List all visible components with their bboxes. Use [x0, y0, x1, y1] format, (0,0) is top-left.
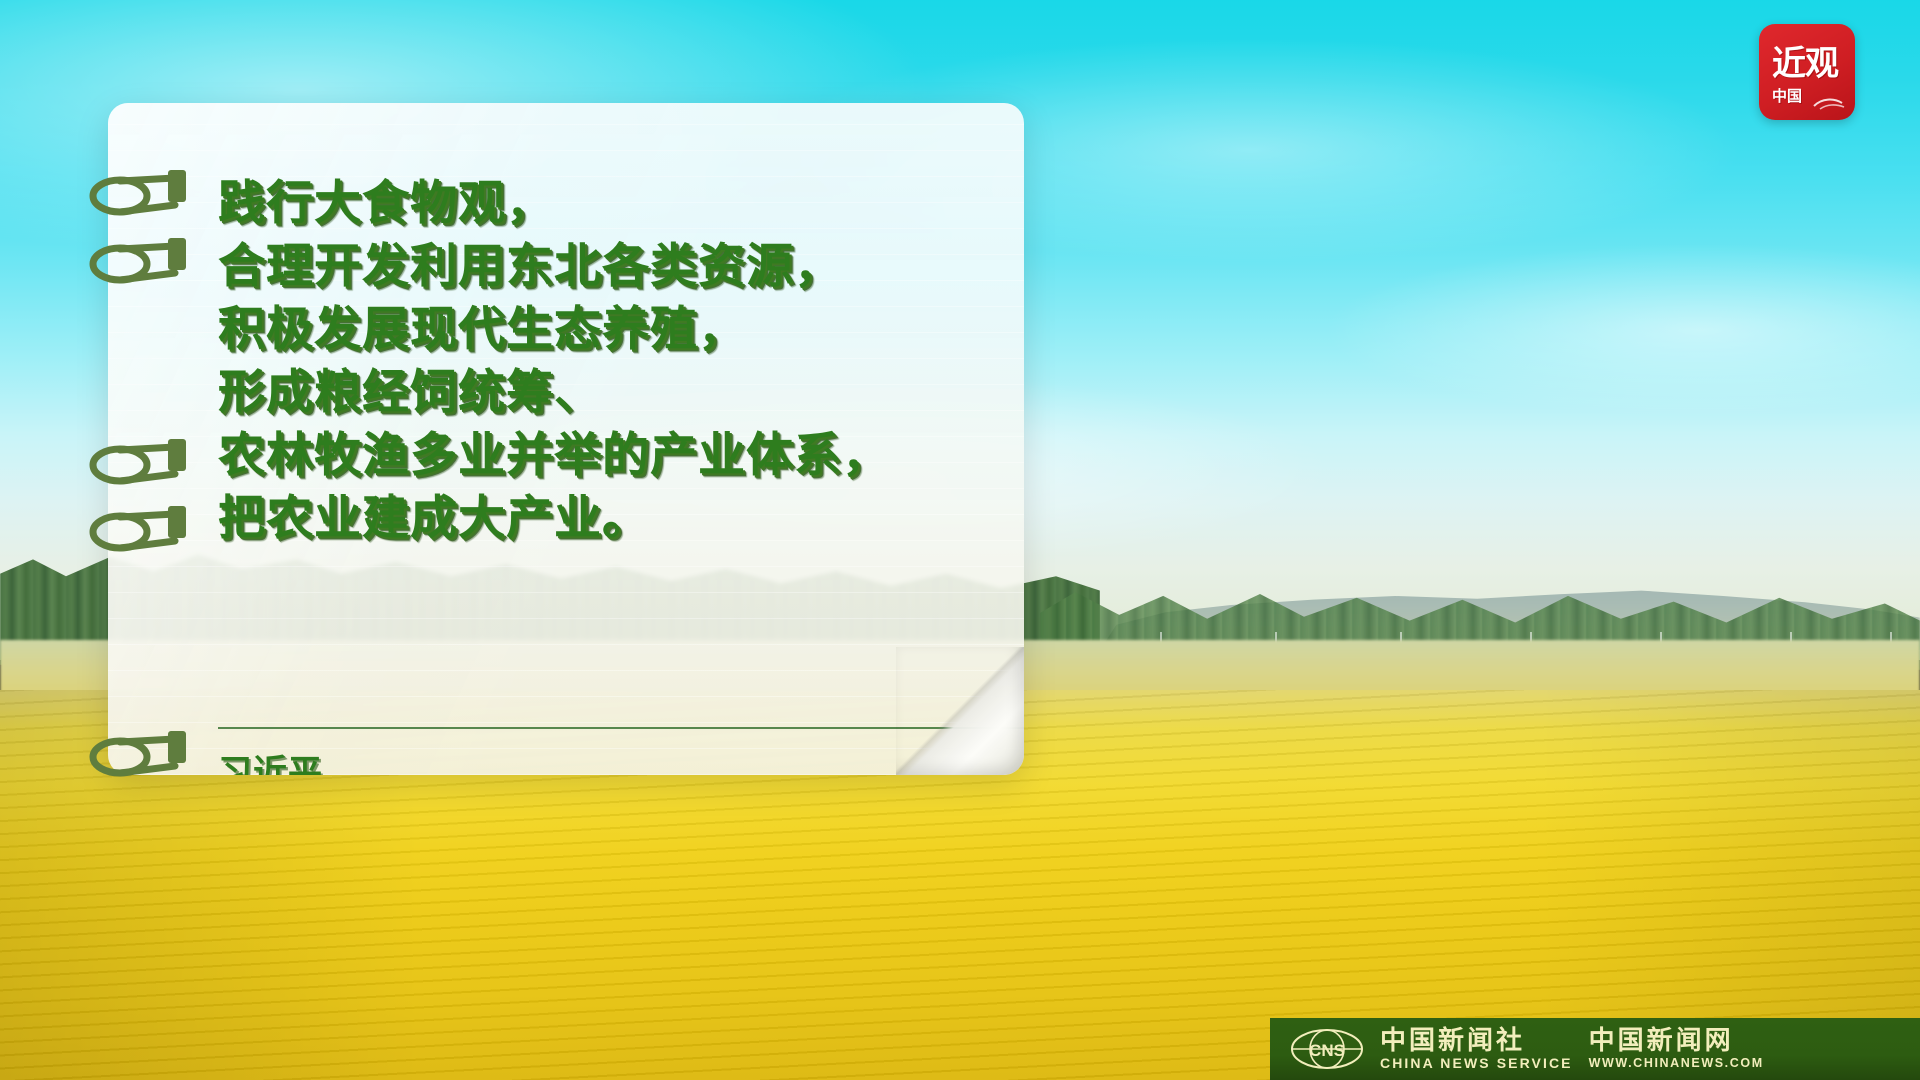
quote-card-body: 践行大食物观， 合理开发利用东北各类资源， 积极发展现代生态养殖， 形成粮经饲统… — [108, 103, 1024, 775]
logo-main-text: 近观 — [1772, 47, 1838, 81]
quote-line: 践行大食物观， — [218, 171, 978, 234]
svg-text:CNS: CNS — [1309, 1041, 1345, 1060]
quote-line: 积极发展现代生态养殖， — [218, 297, 978, 360]
poster-canvas: 近观 中国 践行大食物观， 合理开发利用东北各类资源， 积极发展现代生态养殖， … — [0, 0, 1920, 1080]
logo-sub-text: 中国 — [1772, 89, 1802, 104]
quote-line: 农林牧渔多业并举的产业体系， — [218, 423, 978, 486]
quote-line: 把农业建成大产业。 — [218, 486, 978, 549]
attribution: 习近平 主持召开新时代推动东北全面振兴座谈会并发表重要讲话 2023年9月7日 — [218, 751, 776, 775]
footer-site[interactable]: 中国新闻网 WWW.CHINANEWS.COM — [1589, 1027, 1764, 1072]
footer-agency: 中国新闻社 CHINA NEWS SERVICE — [1380, 1027, 1573, 1072]
cns-footer-bar: CNS 中国新闻社 CHINA NEWS SERVICE 中国新闻网 WWW.C… — [1270, 1018, 1920, 1080]
quote-card: 践行大食物观， 合理开发利用东北各类资源， 积极发展现代生态养殖， 形成粮经饲统… — [108, 103, 1024, 775]
jinguan-zhongguo-logo[interactable]: 近观 中国 — [1759, 24, 1855, 120]
cns-globe-icon: CNS — [1290, 1028, 1364, 1070]
quote-line: 形成粮经饲统筹、 — [218, 360, 978, 423]
footer-agency-en: CHINA NEWS SERVICE — [1380, 1055, 1573, 1072]
footer-agency-cn: 中国新闻社 — [1380, 1027, 1573, 1055]
footer-site-cn: 中国新闻网 — [1589, 1027, 1764, 1055]
quote-line: 合理开发利用东北各类资源， — [218, 234, 978, 297]
page-curl — [896, 647, 1024, 775]
footer-site-url: WWW.CHINANEWS.COM — [1589, 1055, 1764, 1072]
speaker-name: 习近平 — [218, 751, 776, 775]
logo-swoosh-icon — [1812, 94, 1846, 110]
